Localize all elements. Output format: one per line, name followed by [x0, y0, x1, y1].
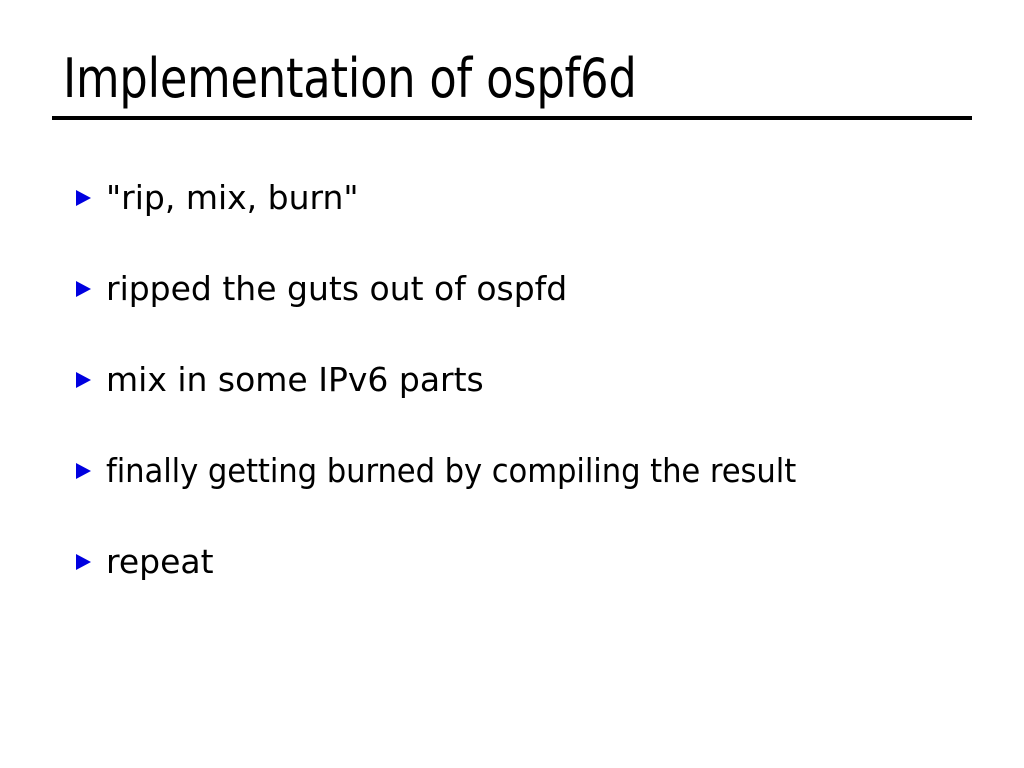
presentation-slide: Implementation of ospf6d "rip, mix, burn… — [0, 0, 1024, 768]
list-item-label: "rip, mix, burn" — [106, 178, 359, 218]
list-item-label: finally getting burned by compiling the … — [106, 451, 796, 491]
list-item-label: mix in some IPv6 parts — [106, 360, 484, 400]
triangle-right-icon — [76, 516, 106, 607]
title-block: Implementation of ospf6d — [52, 48, 972, 120]
triangle-right-icon — [76, 425, 106, 516]
triangle-right-icon — [76, 243, 106, 334]
list-item-label: ripped the guts out of ospfd — [106, 269, 567, 309]
bullet-list: "rip, mix, burn" ripped the guts out of … — [76, 152, 976, 607]
list-item-label: repeat — [106, 542, 214, 582]
triangle-right-icon — [76, 334, 106, 425]
list-item: "rip, mix, burn" — [76, 152, 976, 243]
list-item: ripped the guts out of ospfd — [76, 243, 976, 334]
list-item: mix in some IPv6 parts — [76, 334, 976, 425]
list-item: repeat — [76, 516, 976, 607]
list-item: finally getting burned by compiling the … — [76, 425, 976, 516]
triangle-right-icon — [76, 152, 106, 243]
title-underline-rule — [52, 116, 972, 120]
page-title: Implementation of ospf6d — [52, 48, 898, 110]
